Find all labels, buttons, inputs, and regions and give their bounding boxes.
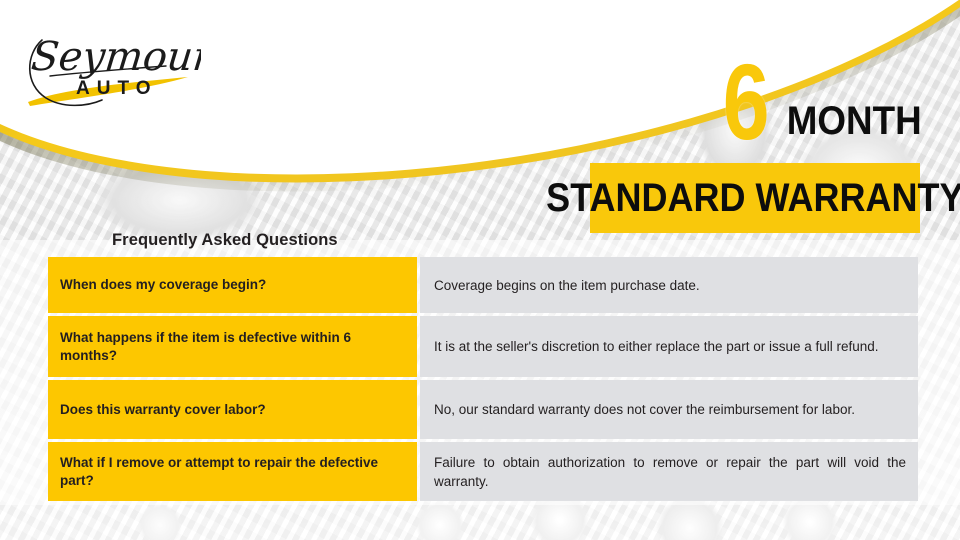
standard-warranty-band: STANDARD WARRANTY [590,163,920,233]
faq-answer-text: Coverage begins on the item purchase dat… [434,276,906,295]
faq-answer: No, our standard warranty does not cover… [420,380,918,439]
warranty-badge: 6 MONTH STANDARD WARRANTY [588,52,920,234]
standard-warranty-text: STANDARD WARRANTY [546,177,960,219]
table-row: Does this warranty cover labor? No, our … [48,380,918,439]
faq-question: Does this warranty cover labor? [48,380,417,439]
table-row: When does my coverage begin? Coverage be… [48,257,918,313]
faq-title: Frequently Asked Questions [112,231,338,250]
logo-auto-text: AUTO [76,78,157,99]
faq-answer-text: It is at the seller's discretion to eith… [434,337,906,356]
faq-question: What if I remove or attempt to repair th… [48,442,417,501]
faq-table: When does my coverage begin? Coverage be… [48,257,918,501]
faq-answer: It is at the seller's discretion to eith… [420,316,918,377]
faq-question: What happens if the item is defective wi… [48,316,417,377]
faq-answer: Coverage begins on the item purchase dat… [420,257,918,313]
faq-answer-text: Failure to obtain authorization to remov… [434,453,906,491]
table-row: What happens if the item is defective wi… [48,316,918,377]
badge-top-line: 6 MONTH [588,52,920,162]
faq-question: When does my coverage begin? [48,257,417,313]
logo-script-text: Seymour [29,34,201,80]
faq-answer: Failure to obtain authorization to remov… [420,442,918,501]
seymour-auto-logo: Seymour AUTO [16,14,201,119]
faq-answer-text: No, our standard warranty does not cover… [434,400,906,419]
table-row: What if I remove or attempt to repair th… [48,442,918,501]
badge-month-number: 6 [723,48,768,156]
badge-month-label: MONTH [787,101,922,141]
